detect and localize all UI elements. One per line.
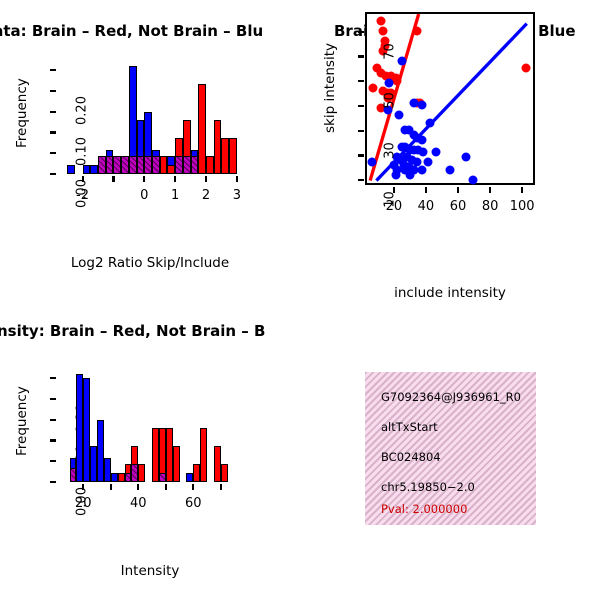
scatter-y-axis-title: skip intensity xyxy=(322,63,338,133)
x-tick xyxy=(457,187,459,193)
histogram-bar xyxy=(166,428,173,482)
x-tick-label: 40 xyxy=(130,496,147,511)
histogram-bar xyxy=(206,156,214,174)
y-tick xyxy=(50,152,56,154)
y-tick xyxy=(50,377,56,379)
histogram-bar xyxy=(76,374,83,482)
annotation-panel: G7092364@J936961_R0 altTxStart BC024804 … xyxy=(300,300,600,600)
histogram-bar xyxy=(90,446,97,482)
x-tick xyxy=(137,484,139,490)
y-tick xyxy=(50,481,56,483)
y-tick xyxy=(50,131,56,133)
annotation-line-locus: chr5.19850−2.0 xyxy=(381,480,475,494)
ratio-histogram-title: atioData: Brain – Red, Not Brain – Blu xyxy=(0,22,263,40)
histogram-bar xyxy=(175,156,183,174)
histogram-bar xyxy=(183,156,191,174)
scatter-point xyxy=(391,170,400,179)
histogram-bar xyxy=(111,473,118,482)
y-tick-label: 70 xyxy=(383,31,398,71)
histogram-bar xyxy=(104,458,111,482)
y-tick xyxy=(358,55,364,57)
x-tick xyxy=(205,176,207,182)
histogram-bar xyxy=(144,156,152,174)
y-tick xyxy=(358,154,364,156)
y-tick-label: 30 xyxy=(383,130,398,170)
annotation-pvalue: Pval: 2.000000 xyxy=(381,502,467,516)
ratio-y-axis-title: Frequency xyxy=(14,88,30,148)
histogram-bar xyxy=(221,138,229,174)
histogram-bar xyxy=(83,378,90,482)
x-tick-label: 20 xyxy=(75,496,92,511)
histogram-bar xyxy=(167,165,175,174)
scatter-point xyxy=(425,118,434,127)
y-tick xyxy=(358,80,364,82)
annotation-line-accession: BC024804 xyxy=(381,450,441,464)
x-tick-label: 20 xyxy=(386,199,403,214)
scatter-point xyxy=(417,165,426,174)
x-tick xyxy=(174,176,176,182)
histogram-bar xyxy=(159,473,166,482)
histogram-bar xyxy=(83,165,91,174)
x-tick-label: 1 xyxy=(171,188,179,203)
x-tick-label: 100 xyxy=(510,199,535,214)
ratio-y-axis-line xyxy=(0,0,2,114)
histogram-bar xyxy=(113,156,121,174)
histogram-bar xyxy=(129,156,137,174)
histogram-bar xyxy=(173,446,180,482)
intensity-y-axis-title: Frequency xyxy=(14,396,30,456)
histogram-bar xyxy=(229,138,237,174)
x-tick xyxy=(82,484,84,490)
scatter-point xyxy=(417,136,426,145)
histogram-bar xyxy=(152,156,160,174)
histogram-bar xyxy=(97,420,104,482)
scatter-point xyxy=(446,165,455,174)
scatter-point xyxy=(462,153,471,162)
y-tick xyxy=(50,439,56,441)
histogram-bar xyxy=(152,428,159,482)
histogram-bar xyxy=(70,468,77,482)
histogram-bar xyxy=(137,156,145,174)
y-tick xyxy=(50,90,56,92)
ratio-histogram-bars xyxy=(64,64,240,174)
x-tick xyxy=(220,484,222,490)
ratio-histogram-panel: atioData: Brain – Red, Not Brain – Blu 0… xyxy=(0,0,300,300)
y-tick-label: 0.20 xyxy=(75,90,90,130)
x-tick xyxy=(143,176,145,182)
scatter-x-axis-title: include intensity xyxy=(300,285,600,300)
x-tick xyxy=(489,187,491,193)
histogram-bar xyxy=(191,156,199,174)
scatter-point xyxy=(423,158,432,167)
x-tick xyxy=(393,187,395,193)
y-tick xyxy=(50,419,56,421)
histogram-bar xyxy=(121,156,129,174)
histogram-bar xyxy=(125,473,132,482)
x-tick-label: 3 xyxy=(233,188,241,203)
intensity-y-axis-line xyxy=(0,300,2,414)
intensity-histogram-bars xyxy=(64,372,240,482)
x-tick xyxy=(110,484,112,490)
histogram-bar xyxy=(160,156,168,174)
x-tick xyxy=(165,484,167,490)
x-tick xyxy=(192,484,194,490)
scatter-point xyxy=(417,101,426,110)
histogram-bar xyxy=(138,464,145,482)
ratio-x-axis-title: Log2 Ratio Skip/Include xyxy=(0,255,300,271)
x-tick xyxy=(521,187,523,193)
x-tick-label: 40 xyxy=(418,199,435,214)
intensity-x-axis-title: Intensity xyxy=(0,563,300,579)
histogram-bar xyxy=(98,156,106,174)
histogram-bar xyxy=(221,464,228,482)
x-tick-label: 60 xyxy=(185,496,202,511)
scatter-point xyxy=(419,148,428,157)
intensity-histogram-panel: ne Itensity: Brain – Red, Not Brain – B … xyxy=(0,300,300,600)
scatter-panel: Brain – Red, Not Brain – Blue 10305070 s… xyxy=(300,0,600,300)
histogram-bar xyxy=(198,84,206,174)
y-tick xyxy=(358,105,364,107)
scatter-point xyxy=(367,158,376,167)
y-tick-label: 50 xyxy=(383,81,398,121)
y-tick xyxy=(358,179,364,181)
x-tick xyxy=(236,176,238,182)
x-tick-label: -2 xyxy=(76,188,89,203)
y-tick xyxy=(358,130,364,132)
intensity-histogram-title: ne Itensity: Brain – Red, Not Brain – B xyxy=(0,322,265,340)
histogram-bar xyxy=(214,446,221,482)
histogram-bar xyxy=(214,120,222,174)
scatter-point xyxy=(377,17,386,26)
x-tick-label: 80 xyxy=(482,199,499,214)
x-tick xyxy=(425,187,427,193)
histogram-bar xyxy=(200,428,207,482)
x-tick-label: 60 xyxy=(450,199,467,214)
intensity-histogram-plot-area xyxy=(64,372,240,482)
y-tick xyxy=(50,173,56,175)
scatter-point xyxy=(406,170,415,179)
y-tick xyxy=(50,111,56,113)
histogram-bar xyxy=(90,165,98,174)
y-tick xyxy=(50,398,56,400)
annotation-box: G7092364@J936961_R0 altTxStart BC024804 … xyxy=(365,372,536,525)
scatter-point xyxy=(431,148,440,157)
annotation-line-probe: G7092364@J936961_R0 xyxy=(381,390,521,404)
scatter-point xyxy=(412,27,421,36)
y-tick xyxy=(50,69,56,71)
histogram-bar xyxy=(106,156,114,174)
x-tick xyxy=(112,176,114,182)
histogram-bar xyxy=(118,473,125,482)
scatter-point xyxy=(398,56,407,65)
x-tick-label: 2 xyxy=(202,188,210,203)
histogram-bar xyxy=(131,464,138,482)
x-tick-label: 0 xyxy=(140,188,148,203)
histogram-bar xyxy=(193,464,200,482)
histogram-bar xyxy=(67,165,75,174)
y-tick xyxy=(358,31,364,33)
annotation-line-event-type: altTxStart xyxy=(381,420,438,434)
x-tick xyxy=(82,176,84,182)
scatter-point xyxy=(521,64,530,73)
y-tick xyxy=(50,460,56,462)
scatter-point xyxy=(468,175,477,184)
scatter-point xyxy=(369,84,378,93)
ratio-histogram-plot-area xyxy=(64,64,240,174)
histogram-bar xyxy=(186,473,193,482)
